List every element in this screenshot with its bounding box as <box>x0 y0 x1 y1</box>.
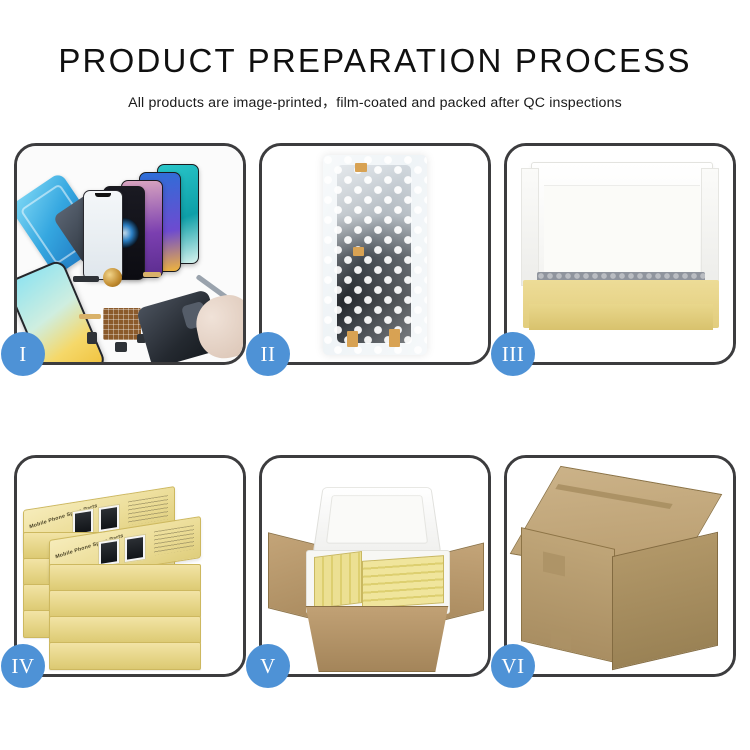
header: PRODUCT PREPARATION PROCESS All products… <box>0 0 750 112</box>
box-base-front <box>529 304 713 330</box>
process-step-2: II <box>259 143 491 365</box>
box-phone-image-4 <box>124 534 146 563</box>
flex-cable-1 <box>143 272 161 277</box>
step-badge-4: IV <box>1 644 45 688</box>
process-step-1: I <box>14 143 246 365</box>
step-badge-1: I <box>1 332 45 376</box>
page-title: PRODUCT PREPARATION PROCESS <box>0 0 750 79</box>
step-4-image: Mobile Phone Spare Parts Mobile Phone Sp… <box>17 458 243 674</box>
box-text-lines-front <box>154 525 194 555</box>
box-front-1 <box>49 564 201 592</box>
tape-tab-bottom-right <box>389 329 400 347</box>
step-5-image <box>262 458 488 674</box>
box-phone-image-3 <box>98 538 120 567</box>
step-3-image <box>507 146 733 362</box>
step-2-image <box>262 146 488 362</box>
carton-right-face <box>612 532 718 670</box>
process-step-6: VI <box>504 455 736 677</box>
product-preparation-infographic: PRODUCT PREPARATION PROCESS All products… <box>0 0 750 750</box>
process-step-5: V <box>259 455 491 677</box>
plastic-sheen <box>323 155 427 355</box>
phone-fan-group <box>81 160 243 282</box>
yellow-boxes-horizontal <box>362 555 444 609</box>
step-badge-2: II <box>246 332 290 376</box>
box-front-3 <box>49 616 201 644</box>
yellow-boxes-vertical <box>314 551 362 609</box>
phone-white-icon <box>83 190 123 280</box>
step-badge-5: V <box>246 644 290 688</box>
foam-lid-icon <box>313 487 442 554</box>
process-step-3: III <box>504 143 736 365</box>
sealed-carton-icon <box>515 480 727 658</box>
tape-tab-bottom-left <box>347 331 358 347</box>
step-badge-3: III <box>491 332 535 376</box>
box-front-4 <box>49 642 201 670</box>
box-text-lines-rear <box>128 495 168 525</box>
step-badge-6: VI <box>491 644 535 688</box>
process-step-4: Mobile Phone Spare Parts Mobile Phone Sp… <box>14 455 246 677</box>
page-subtitle: All products are image-printed，film-coat… <box>0 79 750 112</box>
step-1-image <box>17 146 243 362</box>
flex-cable-2 <box>79 314 101 319</box>
part-bar-1 <box>73 276 99 282</box>
box-flap-left <box>521 168 539 286</box>
part-bar-2 <box>87 332 97 344</box>
box-front-2 <box>49 590 201 618</box>
tape-tab-mid <box>353 247 364 256</box>
chip-grid-icon <box>103 308 141 340</box>
tape-tab-top <box>355 163 367 172</box>
copper-coil-icon <box>103 268 122 287</box>
box-flap-right <box>701 168 719 286</box>
part-bar-3 <box>115 342 127 352</box>
bubble-wrap-package <box>323 155 427 355</box>
carton-front-face <box>296 606 458 672</box>
phone-notch-icon <box>95 193 111 197</box>
step-6-image <box>507 458 733 674</box>
process-step-grid: I II <box>14 143 736 687</box>
